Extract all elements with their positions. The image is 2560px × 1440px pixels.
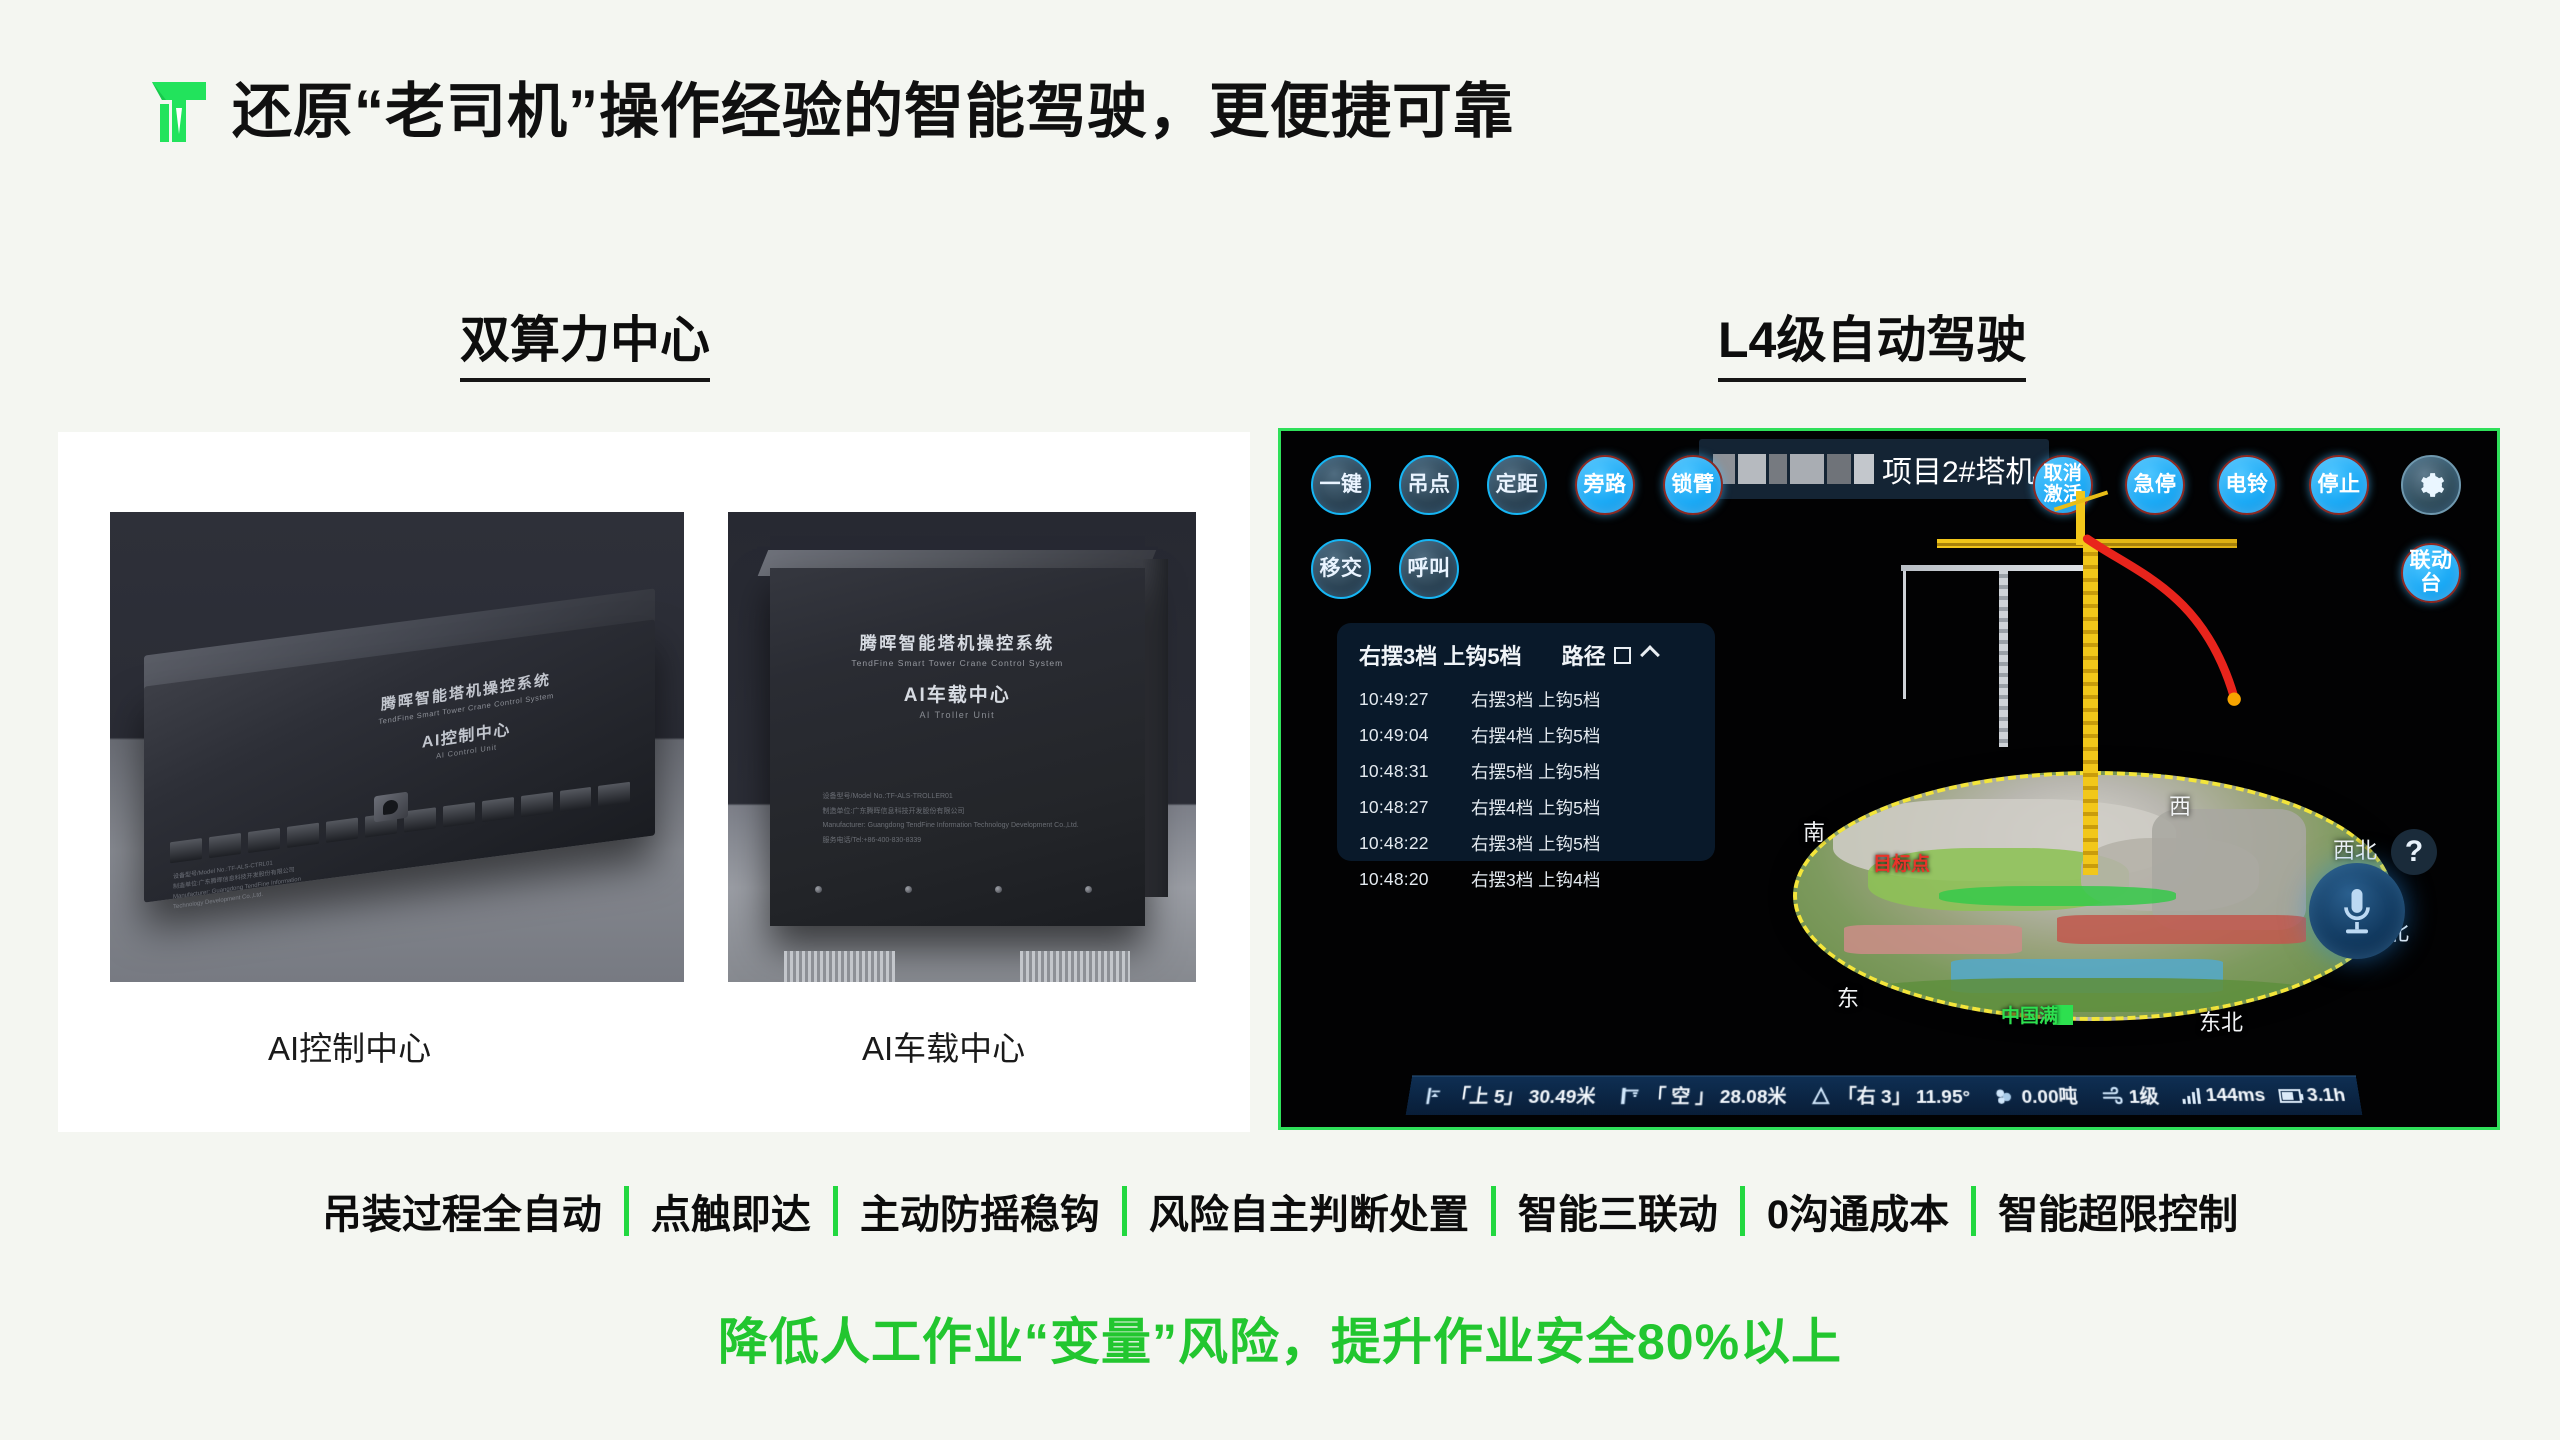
compass-label-northeast: 东北 bbox=[2199, 1005, 2243, 1037]
load-icon bbox=[1993, 1085, 2016, 1107]
device-caption-2: AI车载中心 bbox=[862, 1022, 1025, 1070]
trolley-icon bbox=[1618, 1085, 1642, 1107]
compass-label-east: 东 bbox=[1837, 981, 1859, 1013]
microphone-icon[interactable] bbox=[2309, 863, 2405, 959]
log-timestamp: 10:48:22 bbox=[1359, 833, 1471, 854]
log-timestamp: 10:48:20 bbox=[1359, 869, 1471, 890]
log-message: 右摆5档 上钩5档 bbox=[1471, 759, 1600, 784]
path-toggle[interactable]: 路径 bbox=[1562, 639, 1657, 671]
handover-button[interactable]: 移交 bbox=[1311, 539, 1371, 599]
device-silkscreen: 腾晖智能塔机操控系统 TendFine Smart Tower Crane Co… bbox=[815, 629, 1100, 720]
tendfine-t-logo-icon bbox=[148, 78, 210, 146]
page-header: 还原“老司机”操作经验的智能驾驶，更便捷可靠 bbox=[148, 78, 1514, 146]
log-timestamp: 10:48:31 bbox=[1359, 761, 1471, 782]
log-panel-header: 右摆3档 上钩5档 路径 bbox=[1353, 637, 1699, 681]
log-row: 10:49:04右摆4档 上钩5档 bbox=[1353, 717, 1699, 753]
device-logo-badge bbox=[374, 792, 408, 823]
compass-label-northwest: 西北 bbox=[2333, 833, 2377, 865]
page-title: 还原“老司机”操作经验的智能驾驶，更便捷可靠 bbox=[232, 82, 1514, 142]
log-message: 右摆4档 上钩5档 bbox=[1471, 795, 1600, 820]
slew-icon bbox=[1810, 1085, 1832, 1107]
3d-site-view[interactable]: 南 西 西北 北 东 东北 目标点 中国满 bbox=[1751, 481, 2451, 1071]
section-title-right: L4级自动驾驶 bbox=[1718, 300, 2026, 382]
main-crane-mast bbox=[2083, 543, 2098, 875]
one-key-button[interactable]: 一键 bbox=[1311, 455, 1371, 515]
feature-item: 点触即达 bbox=[629, 1182, 833, 1240]
compass-label-west: 西 bbox=[2169, 789, 2191, 821]
device-brand-cn: 腾晖智能塔机操控系统 bbox=[815, 629, 1100, 654]
hoist-rope bbox=[1903, 571, 1906, 699]
feature-item: 吊装过程全自动 bbox=[300, 1182, 624, 1240]
path-label: 路径 bbox=[1562, 639, 1606, 671]
device-body: 腾晖智能塔机操控系统 TendFine Smart Tower Crane Co… bbox=[770, 568, 1144, 925]
status-battery-runtime: 3.1h bbox=[2278, 1085, 2347, 1107]
log-message: 右摆3档 上钩5档 bbox=[1471, 687, 1600, 712]
devices-panel: 腾晖智能塔机操控系统 TendFine Smart Tower Crane Co… bbox=[58, 432, 1250, 1132]
lock-arm-button[interactable]: 锁臂 bbox=[1663, 455, 1723, 515]
fixed-distance-button[interactable]: 定距 bbox=[1487, 455, 1547, 515]
log-row: 10:48:27右摆4档 上钩5档 bbox=[1353, 789, 1699, 825]
feature-item: 智能三联动 bbox=[1496, 1182, 1740, 1240]
log-row-list[interactable]: 10:49:27右摆3档 上钩5档10:49:04右摆4档 上钩5档10:48:… bbox=[1353, 681, 1699, 897]
planned-path-curve bbox=[2077, 535, 2273, 745]
device-photo-ai-control-unit: 腾晖智能塔机操控系统 TendFine Smart Tower Crane Co… bbox=[110, 512, 684, 982]
site-name-label: 中国满 bbox=[2001, 1001, 2058, 1028]
log-row: 10:48:31右摆5档 上钩5档 bbox=[1353, 753, 1699, 789]
status-hoist-height: 「上 5」 30.49米 bbox=[1421, 1082, 1597, 1109]
path-checkbox-icon[interactable] bbox=[1614, 647, 1631, 664]
log-row: 10:48:20右摆3档 上钩4档 bbox=[1353, 861, 1699, 897]
bypass-button[interactable]: 旁路 bbox=[1575, 455, 1635, 515]
device-side-panel bbox=[1142, 559, 1168, 897]
lift-point-button[interactable]: 吊点 bbox=[1399, 455, 1459, 515]
section-title-left: 双算力中心 bbox=[460, 300, 710, 382]
slide-root: 还原“老司机”操作经验的智能驾驶，更便捷可靠 双算力中心 L4级自动驾驶 腾晖智… bbox=[0, 0, 2560, 1440]
status-network-latency: 144ms bbox=[2181, 1085, 2267, 1107]
log-timestamp: 10:49:27 bbox=[1359, 689, 1471, 710]
log-timestamp: 10:49:04 bbox=[1359, 725, 1471, 746]
help-badge[interactable]: ? bbox=[2391, 829, 2437, 875]
current-gear-status: 右摆3档 上钩5档 bbox=[1359, 639, 1522, 671]
feature-item: 风险自主判断处置 bbox=[1127, 1182, 1491, 1240]
status-trolley-radius: 「 空 」 28.08米 bbox=[1618, 1082, 1787, 1109]
device-screws bbox=[815, 886, 1092, 893]
bottom-tagline: 降低人工作业“变量”风险，提升作业安全80%以上 bbox=[0, 1302, 2560, 1374]
log-timestamp: 10:48:27 bbox=[1359, 797, 1471, 818]
hmi-status-bar: 「上 5」 30.49米 「 空 」 28.08米 「右 3」 11.95° 0… bbox=[1406, 1075, 2363, 1114]
call-button[interactable]: 呼叫 bbox=[1399, 539, 1459, 599]
device-fineprint: 设备型号/Model No.:TF-ALS-TROLLER01 制造单位:广东腾… bbox=[823, 790, 1100, 849]
status-load-weight: 0.00吨 bbox=[1993, 1082, 2078, 1109]
status-wind-level: 1级 bbox=[2100, 1082, 2160, 1109]
hoist-icon bbox=[1421, 1085, 1446, 1107]
chevron-up-icon[interactable] bbox=[1640, 645, 1660, 665]
battery-icon bbox=[2278, 1089, 2302, 1103]
feature-item: 智能超限控制 bbox=[1976, 1182, 2260, 1240]
device-brand-en: TendFine Smart Tower Crane Control Syste… bbox=[815, 658, 1100, 668]
hmi-screenshot: 项目2#塔机 一键 吊点 定距 旁路 锁臂 移交 呼叫 取消 激活 急停 电铃 … bbox=[1278, 428, 2500, 1130]
wind-icon bbox=[2100, 1085, 2124, 1107]
feature-item: 0沟通成本 bbox=[1745, 1182, 1971, 1240]
feature-item: 主动防摇稳钩 bbox=[838, 1182, 1122, 1240]
device-photo-ai-troller-unit: 腾晖智能塔机操控系统 TendFine Smart Tower Crane Co… bbox=[728, 512, 1196, 982]
device-caption-1: AI控制中心 bbox=[268, 1022, 431, 1070]
log-message: 右摆4档 上钩5档 bbox=[1471, 723, 1600, 748]
log-message: 右摆3档 上钩5档 bbox=[1471, 831, 1600, 856]
secondary-crane-mast bbox=[1999, 567, 2008, 747]
operation-log-panel[interactable]: 右摆3档 上钩5档 路径 10:49:27右摆3档 上钩5档10:49:04右摆… bbox=[1337, 623, 1715, 861]
device-heatsink bbox=[784, 951, 1130, 982]
feature-strip: 吊装过程全自动点触即达主动防摇稳钩风险自主判断处置智能三联动0沟通成本智能超限控… bbox=[0, 1182, 2560, 1240]
hmi-canvas: 项目2#塔机 一键 吊点 定距 旁路 锁臂 移交 呼叫 取消 激活 急停 电铃 … bbox=[1281, 431, 2497, 1127]
signal-icon bbox=[2181, 1088, 2201, 1104]
compass-label-south: 南 bbox=[1803, 815, 1825, 847]
device-model-cn: AI车载中心 bbox=[815, 680, 1100, 707]
target-point-label: 目标点 bbox=[1873, 849, 1930, 876]
log-message: 右摆3档 上钩4档 bbox=[1471, 867, 1600, 892]
device-model-en: AI Troller Unit bbox=[815, 710, 1100, 720]
log-row: 10:49:27右摆3档 上钩5档 bbox=[1353, 681, 1699, 717]
log-row: 10:48:22右摆3档 上钩5档 bbox=[1353, 825, 1699, 861]
status-slew-angle: 「右 3」 11.95° bbox=[1809, 1082, 1970, 1109]
